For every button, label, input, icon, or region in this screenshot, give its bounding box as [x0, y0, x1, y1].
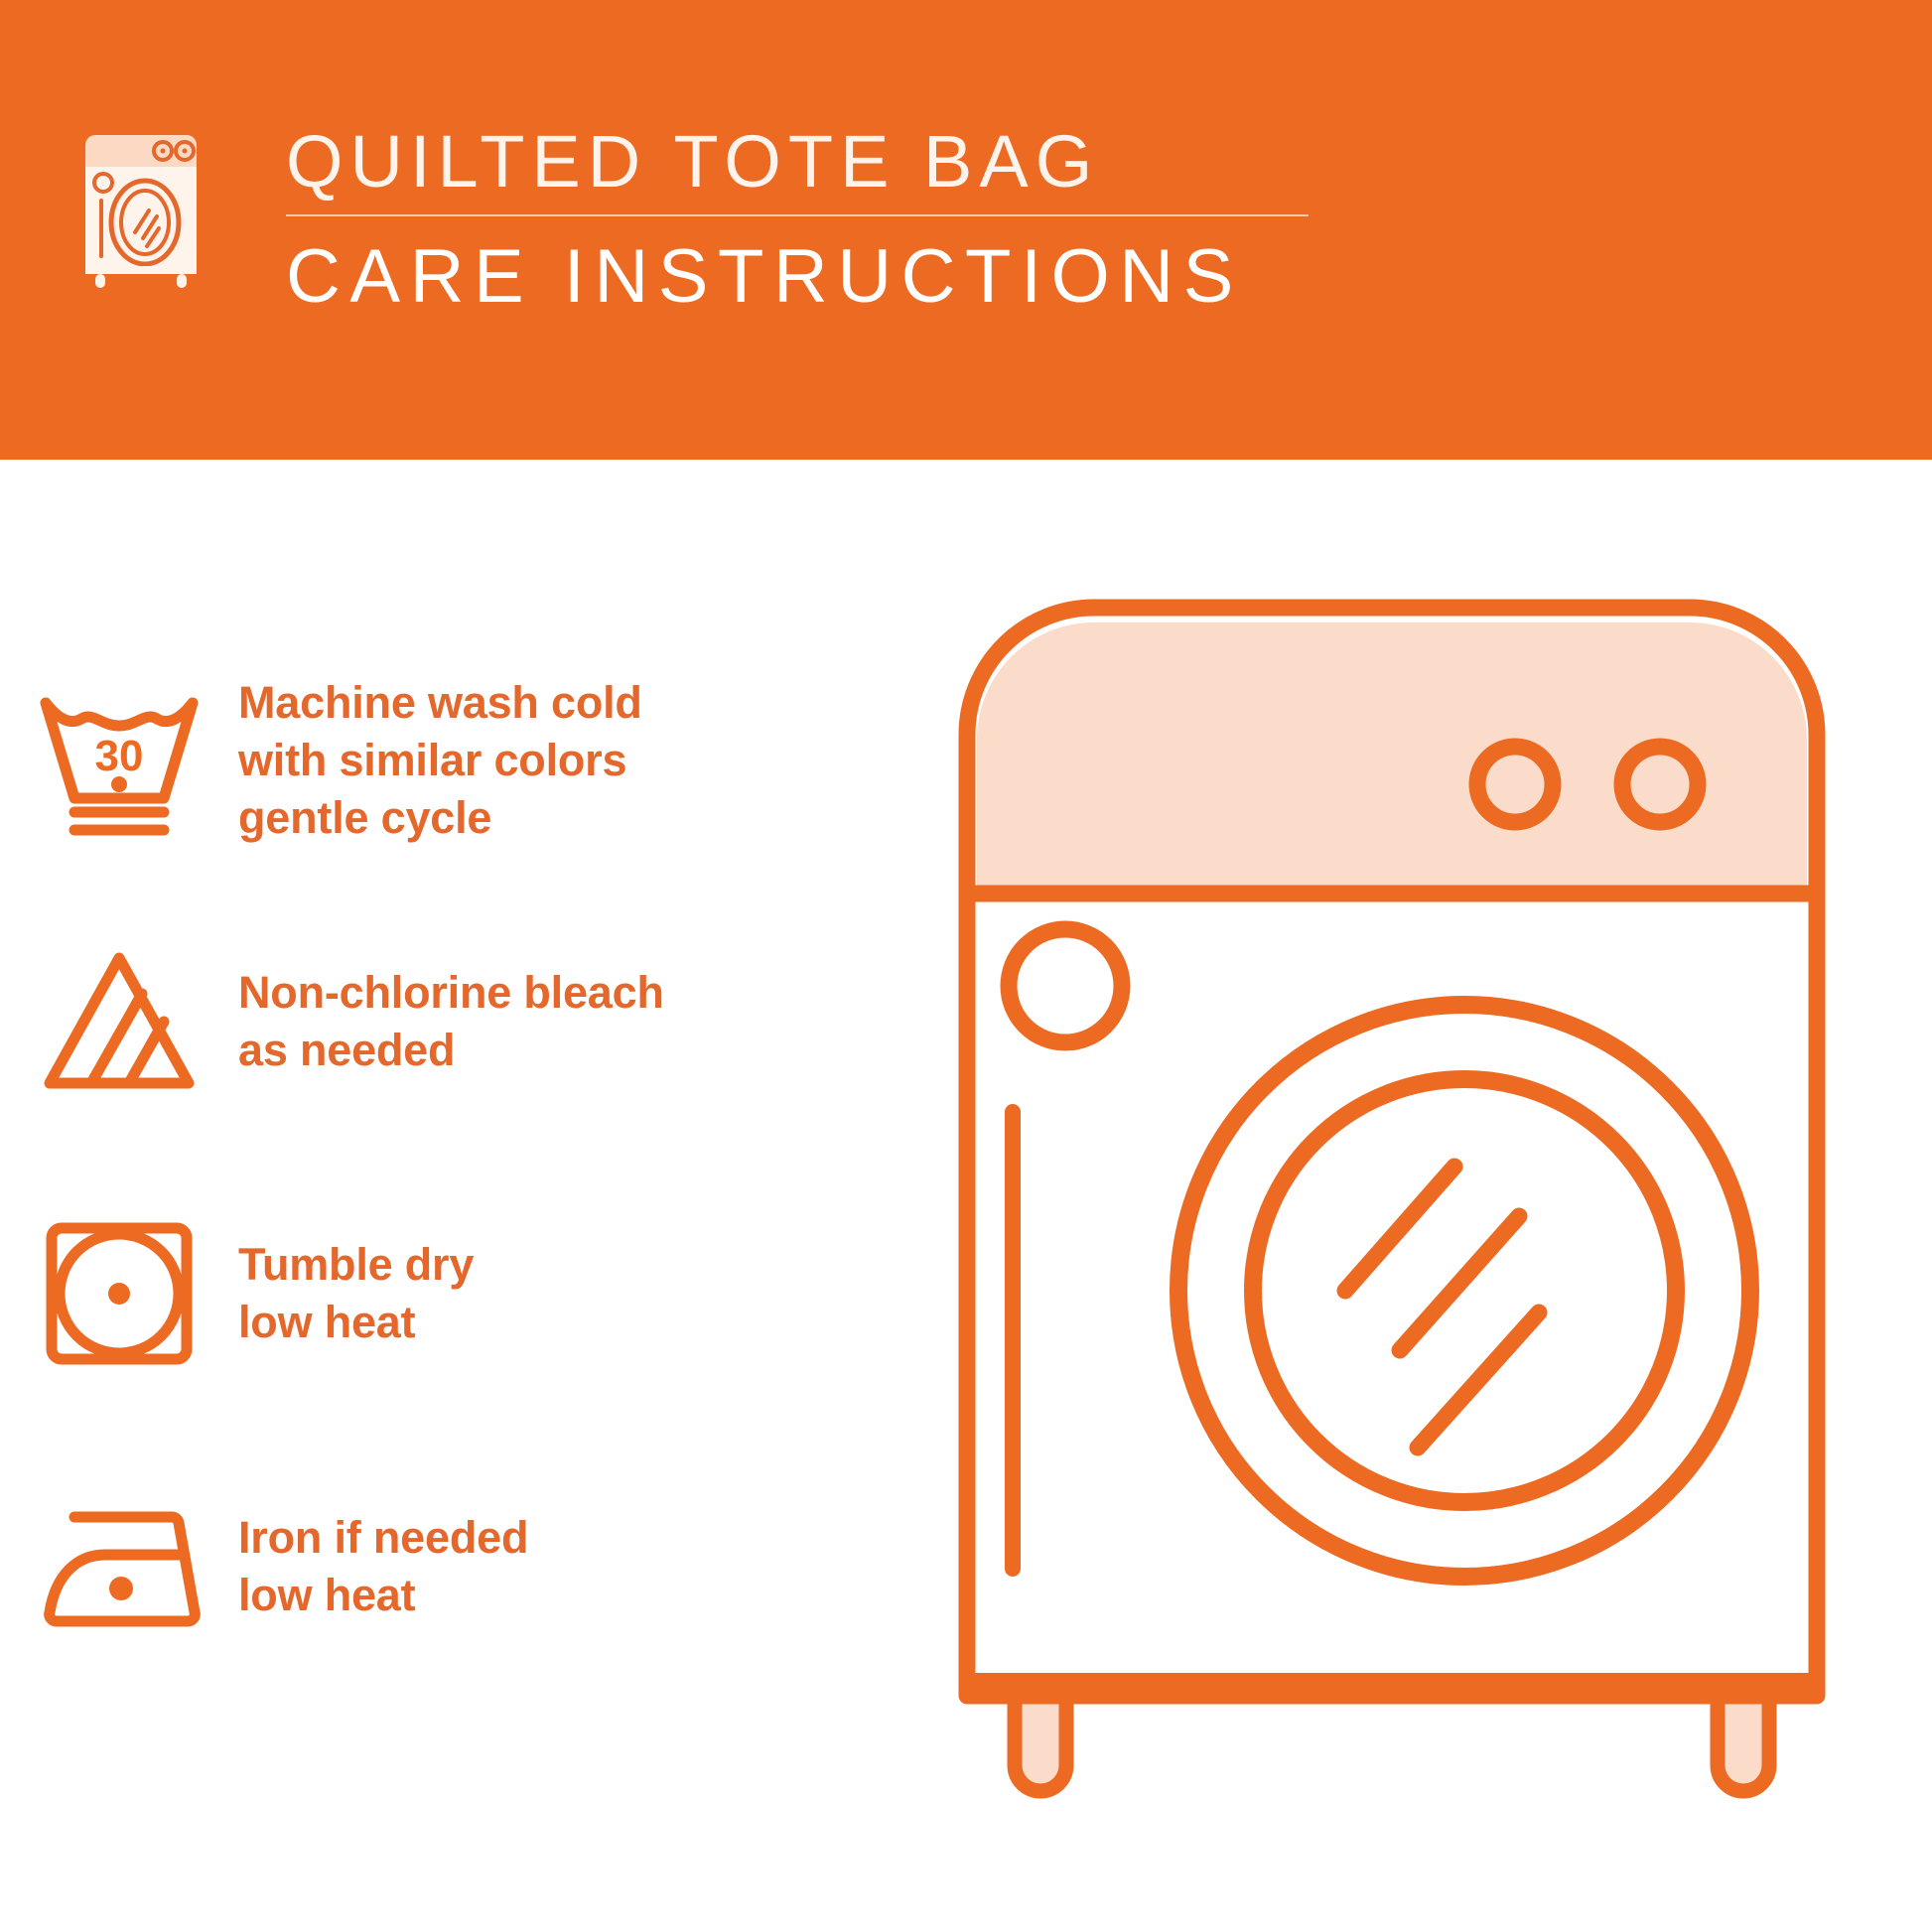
header-divider	[286, 214, 1309, 216]
header-band: QUILTED TOTE BAG CARE INSTRUCTIONS	[0, 0, 1932, 460]
care-instruction-list: 30 Machine wash cold with similar colors…	[0, 460, 953, 1932]
care-item-label: Iron if needed low heat	[238, 1509, 894, 1624]
care-item-label: Machine wash cold with similar colors ge…	[238, 674, 894, 847]
tumble-dry-low-heat-icon	[0, 1214, 238, 1373]
header-text-block: QUILTED TOTE BAG CARE INSTRUCTIONS	[286, 121, 1318, 320]
washing-machine-icon	[77, 125, 205, 289]
page-subtitle: CARE INSTRUCTIONS	[286, 234, 1318, 320]
machine-base	[967, 1673, 1813, 1697]
iron-low-heat-icon	[0, 1487, 238, 1646]
knob-right	[1622, 747, 1698, 822]
care-item-tumble-dry: Tumble dry low heat	[0, 1214, 894, 1373]
front-load-washing-machine-illustration	[953, 596, 1886, 1866]
non-chlorine-bleach-triangle-icon	[0, 942, 238, 1101]
care-item-label: Tumble dry low heat	[238, 1236, 894, 1351]
care-item-label: Non-chlorine bleach as needed	[238, 964, 894, 1079]
page-title: QUILTED TOTE BAG	[286, 121, 1318, 203]
knob-left	[1477, 747, 1553, 822]
wash-tub-30-gentle-icon: 30	[0, 681, 238, 840]
care-item-iron: Iron if needed low heat	[0, 1487, 894, 1646]
care-item-machine-wash: 30 Machine wash cold with similar colors…	[0, 674, 894, 847]
wash-temperature-label: 30	[95, 732, 144, 780]
care-instructions-page: QUILTED TOTE BAG CARE INSTRUCTIONS 30	[0, 0, 1932, 1932]
care-item-bleach: Non-chlorine bleach as needed	[0, 942, 894, 1101]
